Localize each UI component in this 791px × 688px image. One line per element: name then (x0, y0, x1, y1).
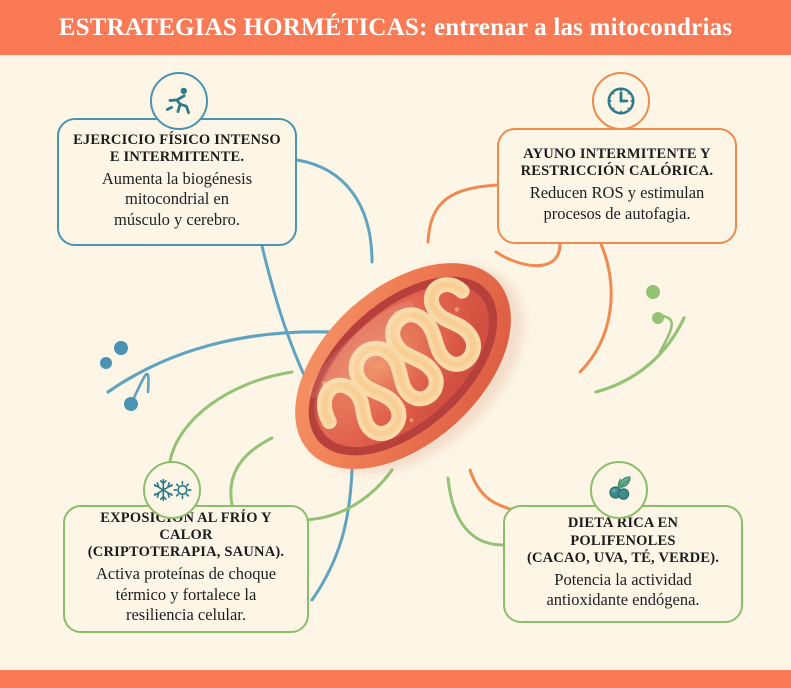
card-fasting[interactable]: AYUNO INTERMITENTE Y RESTRICCIÓN CALÓRIC… (497, 128, 737, 244)
card-diet-body: Potencia la actividad antioxidante endóg… (546, 570, 699, 611)
infographic-canvas: ESTRATEGIAS HORMÉTICAS: entrenar a las m… (0, 0, 791, 688)
card-thermal-body: Activa proteínas de choque térmico y for… (96, 564, 276, 625)
connector-green-dots (646, 285, 664, 324)
card-diet[interactable]: DIETA RICA EN POLIFENOLES (CACAO, UVA, T… (503, 505, 743, 623)
running-figure-icon (150, 72, 208, 130)
card-thermal-title: EXPOSICIÓN AL FRÍO Y CALOR (CRIPTOTERAPI… (77, 510, 295, 561)
page-title: ESTRATEGIAS HORMÉTICAS: entrenar a las m… (59, 14, 732, 42)
card-diet-title: DIETA RICA EN POLIFENOLES (CACAO, UVA, T… (517, 515, 729, 566)
sun-glyph (174, 482, 191, 499)
clock-icon (592, 72, 650, 130)
berries-leaf-icon (590, 461, 648, 519)
card-thermal[interactable]: EXPOSICIÓN AL FRÍO Y CALOR (CRIPTOTERAPI… (63, 505, 309, 633)
card-exercise-title: EJERCICIO FÍSICO INTENSO E INTERMITENTE. (73, 132, 281, 166)
snowflake-sun-icon (143, 461, 201, 519)
snowflake-glyph (155, 480, 172, 501)
card-fasting-body: Reducen ROS y estimulan procesos de auto… (530, 183, 705, 224)
footer-bar (0, 670, 791, 688)
header-bar: ESTRATEGIAS HORMÉTICAS: entrenar a las m… (0, 0, 791, 55)
card-fasting-title: AYUNO INTERMITENTE Y RESTRICCIÓN CALÓRIC… (521, 146, 714, 180)
card-exercise-body: Aumenta la biogénesis mitocondrial en mú… (102, 169, 252, 230)
card-exercise[interactable]: EJERCICIO FÍSICO INTENSO E INTERMITENTE.… (57, 118, 297, 246)
